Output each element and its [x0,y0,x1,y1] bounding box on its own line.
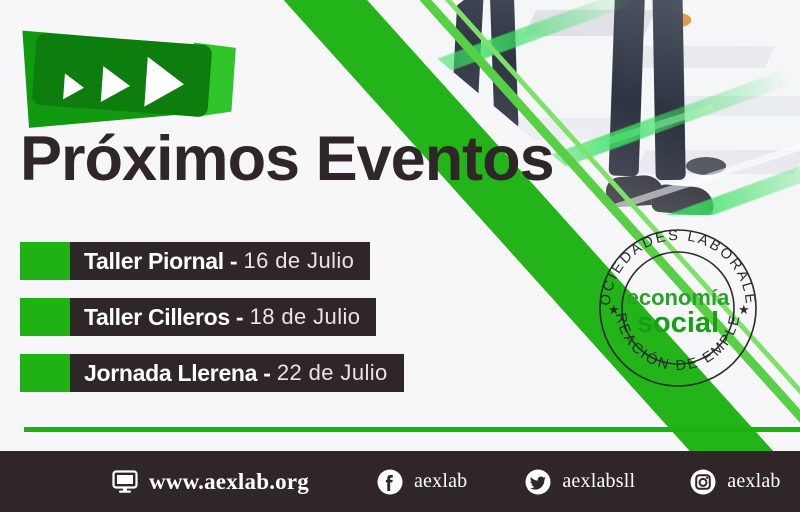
event-label: Taller Cilleros - 18 de Julio [70,298,376,336]
list-item[interactable]: Taller Piornal - 16 de Julio [20,242,404,280]
event-separator: - [230,248,238,275]
footer-instagram[interactable]: aexlab [690,469,780,495]
event-name: Taller Cilleros [84,304,230,331]
event-name: Jornada Llerena [84,360,257,387]
twitter-icon [525,469,551,495]
stamp-center-line2: social [637,307,719,339]
play-arrow-small-icon [63,73,85,100]
instagram-icon [690,469,716,495]
event-label: Taller Piornal - 16 de Julio [70,242,370,280]
footer-facebook[interactable]: aexlab [377,469,467,495]
footer-facebook-label: aexlab [414,470,467,493]
poster-canvas: Próximos Eventos Taller Piornal - 16 de … [0,0,800,512]
event-green-chip [20,354,70,392]
footer-twitter[interactable]: aexlabsll [525,469,635,495]
facebook-icon [377,469,403,495]
stamp-star-left-icon: ★ [608,302,620,317]
green-divider [24,427,800,432]
footer-instagram-label: aexlab [727,470,780,493]
event-name: Taller Piornal [84,248,224,275]
footer-website[interactable]: www.aexlab.org [112,469,309,495]
list-item[interactable]: Jornada Llerena - 22 de Julio [20,354,404,392]
events-list: Taller Piornal - 16 de Julio Taller Cill… [20,242,404,392]
stamp-star-right-icon: ★ [738,302,750,317]
event-green-chip [20,298,70,336]
footer-bar: www.aexlab.org aexlab aexlabsll [0,451,800,512]
play-arrow-medium-icon [101,66,131,104]
play-arrow-large-icon [144,57,185,110]
event-separator: - [236,304,244,331]
aexlab-logo[interactable] [18,22,238,130]
event-label: Jornada Llerena - 22 de Julio [70,354,404,392]
event-green-chip [20,242,70,280]
footer-website-label: www.aexlab.org [149,469,309,495]
footer-twitter-label: aexlabsll [562,470,635,493]
list-item[interactable]: Taller Cilleros - 18 de Julio [20,298,404,336]
event-date: 16 de Julio [243,248,354,274]
page-title: Próximos Eventos [20,128,554,191]
event-date: 22 de Julio [277,360,388,386]
event-date: 18 de Julio [250,304,361,330]
economia-social-stamp: SOCIEDADES LABORALES CREACIÓN DE EMPLEO … [592,222,764,394]
event-separator: - [263,360,271,387]
monitor-icon [112,470,138,494]
